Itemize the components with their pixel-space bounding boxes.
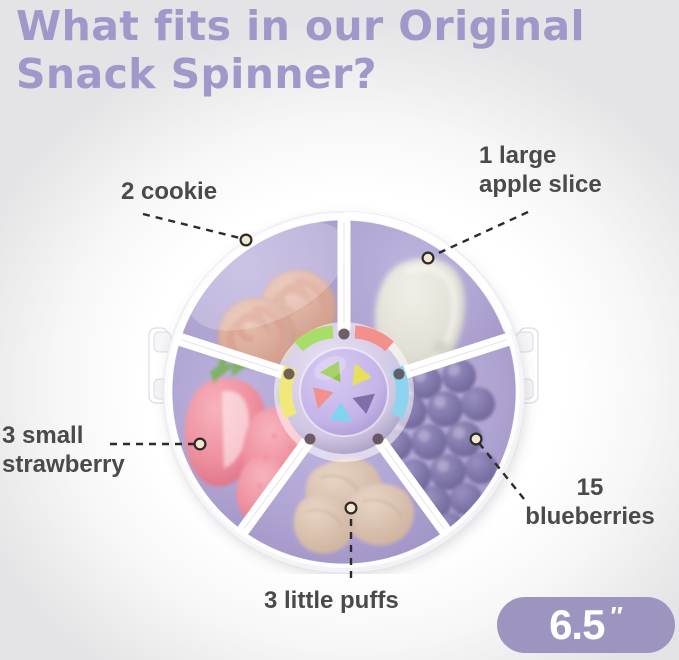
size-badge-unit: ″: [610, 603, 622, 629]
infographic-canvas: What fits in our Original Snack Spinner?: [0, 0, 679, 660]
title-line-1: What fits in our Original: [16, 2, 585, 50]
snack-spinner-svg: [148, 196, 540, 574]
callout-label-blueberries: 15 blueberries: [506, 473, 674, 531]
callout-label-cookie: 2 cookie: [121, 177, 217, 206]
center-spinner[interactable]: [274, 322, 414, 462]
callout-label-strawberry: 3 small strawberry: [2, 421, 125, 479]
product-image: [148, 196, 540, 574]
callout-label-apple: 1 large apple slice: [479, 141, 602, 199]
size-badge: 6.5 ″: [497, 597, 675, 653]
title-line-2: Snack Spinner?: [16, 50, 666, 98]
callout-label-puffs: 3 little puffs: [264, 586, 399, 615]
page-title: What fits in our Original Snack Spinner?: [16, 2, 666, 98]
size-badge-value: 6.5: [549, 604, 604, 646]
